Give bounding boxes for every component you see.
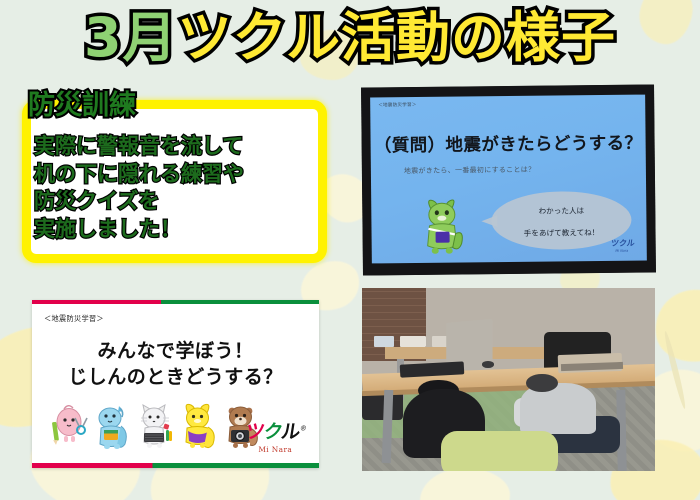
photo-cushion bbox=[441, 431, 558, 471]
slide-card-title-line2: じしんのときどうする？ bbox=[32, 362, 319, 389]
title-month: 3月 bbox=[84, 11, 178, 65]
speech-bubble-line1: わかった人は bbox=[491, 205, 631, 217]
tsukuru-logo-on-slide: ツクル Mi Nara bbox=[610, 238, 636, 253]
info-card-body: 実際に警報音を流して 机の下に隠れる練習や 防災クイズを 実施しました！ bbox=[34, 133, 324, 244]
slide-bottom-bar bbox=[32, 463, 319, 468]
info-line: 実施しました！ bbox=[34, 216, 324, 244]
slide-card-tag: ＜地震防災学習＞ bbox=[44, 314, 104, 324]
white-cat-mascot-icon bbox=[136, 400, 174, 450]
info-line: 机の下に隠れる練習や bbox=[34, 161, 324, 189]
green-squirrel-mascot-icon bbox=[419, 193, 466, 255]
registered-mark: ® bbox=[299, 425, 306, 433]
slide-question: （質問）地震がきたらどうする？ bbox=[370, 130, 645, 158]
tsukuru-logo-mark: ツクル® bbox=[243, 417, 307, 444]
tsukuru-logo: ツクル® Mi Nara bbox=[246, 417, 305, 454]
photo-person-crouching bbox=[520, 383, 596, 434]
blossom-shape bbox=[420, 468, 510, 500]
photo-shelf-item bbox=[400, 336, 426, 347]
tsukuru-logo-text: ツクル bbox=[611, 239, 636, 248]
pink-bird-mascot-icon bbox=[50, 400, 88, 450]
slide-card-title-line1: みんなで学ぼう！ bbox=[32, 336, 319, 363]
learning-slide-card: ＜地震防災学習＞ みんなで学ぼう！ じしんのときどうする？ bbox=[32, 300, 319, 468]
page-title: 3月 ツクル活動の様子 bbox=[0, 2, 700, 74]
mascot-row bbox=[50, 395, 260, 450]
yellow-squirrel-mascot-icon bbox=[179, 400, 217, 450]
title-main: ツクル活動の様子 bbox=[178, 11, 616, 65]
photo-shelf-item bbox=[374, 336, 395, 347]
info-card-heading: 防災訓練 bbox=[28, 83, 136, 122]
tv-screen: ＜地震防災学習＞ （質問）地震がきたらどうする？ 地震がきたら、一番最初にするこ… bbox=[370, 95, 647, 264]
speech-bubble-line2: 手をあげて教えてね！ bbox=[492, 227, 632, 239]
tv-presentation-photo: ＜地震防災学習＞ （質問）地震がきたらどうする？ 地震がきたら、一番最初にするこ… bbox=[361, 84, 656, 275]
photo-mouse bbox=[482, 361, 494, 367]
slide-top-bar bbox=[32, 300, 319, 304]
tsukuru-logo-char-3: ル bbox=[279, 421, 301, 443]
info-line: 実際に警報音を流して bbox=[34, 133, 324, 161]
tsukuru-logo-sub: Mi Nara bbox=[610, 249, 634, 253]
drill-photo bbox=[362, 288, 655, 471]
blue-dragon-mascot-icon bbox=[93, 400, 131, 450]
slide-subtitle: 地震がきたら、一番最初にすることは？ bbox=[404, 165, 536, 176]
poster-root: 3月 ツクル活動の様子 実際に警報音を流して 机の下に隠れる練習や 防災クイズを… bbox=[0, 0, 700, 500]
photo-desk-leg-left bbox=[381, 390, 392, 463]
slide-tag: ＜地震防災学習＞ bbox=[378, 102, 416, 108]
tsukuru-logo-subtitle: Mi Nara bbox=[246, 445, 305, 454]
info-line: 防災クイズを bbox=[34, 188, 324, 216]
